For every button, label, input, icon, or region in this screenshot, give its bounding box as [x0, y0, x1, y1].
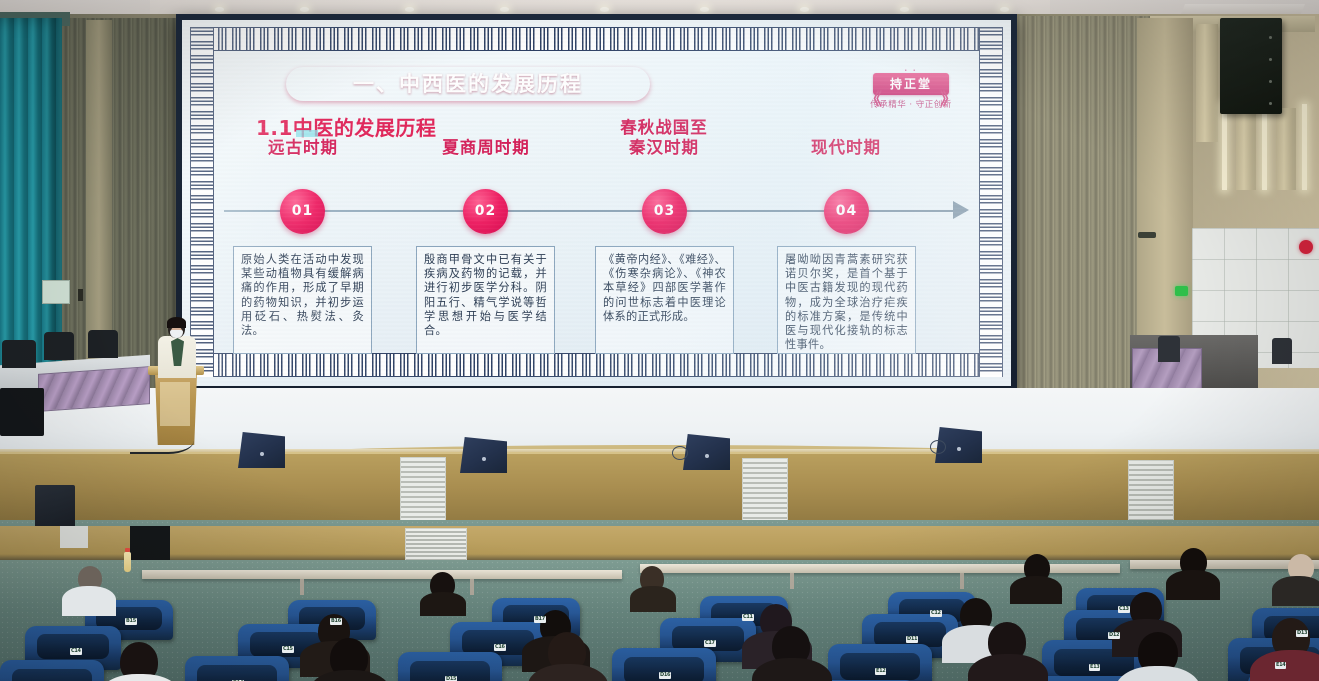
seat-number: D12	[1108, 632, 1120, 639]
seat-number: C11	[742, 614, 754, 621]
timeline-textbox-4: 屠呦呦因青蒿素研究获诺贝尔奖，是首个基于中医古籍发现的现代药物，成为全球治疗疟疾…	[777, 246, 916, 354]
stage-desk-skirt	[38, 366, 150, 412]
side-chair	[1158, 336, 1180, 362]
timeline-node-2: 02	[463, 189, 508, 234]
stage-vent-grille	[1128, 460, 1174, 528]
seat-number: C13	[1118, 606, 1130, 613]
wall-slot	[78, 289, 83, 301]
downlight	[405, 7, 414, 12]
slide-subtitle: 1.1中医的发展历程	[256, 112, 436, 141]
logo-bracket-left: 《	[865, 85, 882, 110]
brand-logo: • • 《 》 持正堂 传承精华 · 守正创新	[865, 68, 957, 110]
slide-fret-border-bottom	[190, 353, 1003, 377]
stage-chair	[44, 332, 74, 360]
seat-number: D16	[659, 672, 671, 679]
mic-stand-base	[672, 446, 688, 460]
stage-monitor-speaker	[238, 432, 285, 468]
cove-light	[1302, 104, 1307, 190]
timeline-arrow-icon	[953, 201, 969, 219]
stage-monitor-speaker	[460, 437, 507, 473]
wall-fin	[1236, 108, 1256, 190]
floor-cable	[130, 420, 194, 454]
timeline-textbox-1: 原始人类在活动中发现某些动植物具有缓解病痛的作用，形成了早期的药物知识，并初步运…	[233, 246, 372, 354]
downlight	[1000, 7, 1009, 12]
seat[interactable]	[828, 644, 932, 681]
stage-vent-grille	[742, 458, 788, 526]
downlight	[800, 7, 809, 12]
screenshot-root: 一、中西医的发展历程 1.1中医的发展历程 • • 《 》 持正堂 传承精华 ·…	[0, 0, 1319, 681]
era-label-1: 远古时期	[228, 138, 378, 158]
backwall-vent-grille	[405, 528, 467, 562]
slide-content: 一、中西医的发展历程 1.1中医的发展历程 • • 《 》 持正堂 传承精华 ·…	[218, 50, 975, 352]
seat[interactable]	[185, 656, 289, 681]
seat-number: E12	[875, 668, 886, 675]
timeline-body-2: 殷商甲骨文中已有关于疾病及药物的记载，并进行初步医学分科。阴阳五行、精气学说等哲…	[424, 253, 547, 338]
timeline-node-1-number: 01	[280, 189, 325, 234]
door-handle[interactable]	[1138, 232, 1156, 238]
seat-number: C14	[70, 648, 82, 655]
wall-fin	[1196, 24, 1218, 142]
timeline-node-1: 01	[280, 189, 325, 234]
seat-number: D15	[445, 676, 457, 681]
stage-chair	[88, 330, 118, 358]
side-chair	[1272, 338, 1292, 364]
cove-light	[1222, 104, 1227, 190]
era-label-2: 夏商周时期	[406, 138, 566, 158]
cove-light	[1262, 104, 1267, 190]
seat-number: C16	[494, 644, 506, 651]
logo-mark-text: 持正堂	[873, 73, 949, 95]
line-array-speaker	[1220, 18, 1282, 114]
lecture-hall: 一、中西医的发展历程 1.1中医的发展历程 • • 《 》 持正堂 传承精华 ·…	[0, 0, 1319, 681]
timeline-body-3: 《黄帝内经》、《难经》、《伤寒杂病论》、《神农本草经》四部医学著作的问世标志着中…	[603, 253, 726, 324]
seat-number: B17	[534, 616, 546, 623]
seat-number: C12	[930, 610, 942, 617]
timeline-body-4: 屠呦呦因青蒿素研究获诺贝尔奖，是首个基于中医古籍发现的现代药物，成为全球治疗疟疾…	[785, 253, 908, 352]
audience-desk-row	[142, 570, 622, 579]
alarm-indicator	[1299, 240, 1313, 254]
timeline-node-3-number: 03	[642, 189, 687, 234]
mic-stand-base	[930, 440, 946, 454]
timeline-node-3: 03	[642, 189, 687, 234]
timeline-textbox-3: 《黄帝内经》、《难经》、《伤寒杂病论》、《神农本草经》四部医学著作的问世标志着中…	[595, 246, 734, 354]
downlight	[215, 7, 224, 12]
stage-vent-grille	[400, 457, 446, 525]
slide-fret-border-top	[190, 27, 1003, 51]
stage-chair	[2, 340, 36, 368]
era-label-4: 现代时期	[770, 138, 922, 158]
downlight	[500, 7, 509, 12]
stage-front-panel	[0, 452, 1319, 528]
stage-monitor-speaker	[683, 434, 730, 470]
backwall-door[interactable]	[130, 526, 170, 560]
slide-fret-border-left	[190, 27, 214, 377]
slide-fret-border-right	[979, 27, 1003, 377]
backwall-panel	[60, 526, 88, 548]
downlight	[700, 7, 709, 12]
downlight	[300, 7, 309, 12]
timeline-body-1: 原始人类在活动中发现某些动植物具有缓解病痛的作用，形成了早期的药物知识，并初步运…	[241, 253, 364, 338]
exit-sign-icon	[1175, 286, 1188, 296]
slide-title-text: 一、中西医的发展历程	[286, 67, 650, 101]
downlight	[600, 7, 609, 12]
wall-control-panel	[42, 280, 70, 304]
equipment-case	[0, 388, 44, 436]
seat-number: E14	[1275, 662, 1286, 669]
timeline-node-4-number: 04	[824, 189, 869, 234]
seat-number: C15	[282, 646, 294, 653]
slide-title-banner: 一、中西医的发展历程	[286, 67, 650, 101]
seat-number: B16	[330, 618, 342, 625]
timeline-node-2-number: 02	[463, 189, 508, 234]
downlight	[900, 7, 909, 12]
projection-screen: 一、中西医的发展历程 1.1中医的发展历程 • • 《 》 持正堂 传承精华 ·…	[182, 20, 1011, 386]
subtitle-highlight	[296, 130, 318, 137]
seat-number: C17	[704, 640, 716, 647]
timeline-textbox-2: 殷商甲骨文中已有关于疾病及药物的记载，并进行初步医学分科。阴阳五行、精气学说等哲…	[416, 246, 555, 354]
ceiling-fixture	[1181, 4, 1305, 14]
seat-number: D13	[1296, 630, 1308, 637]
presenter-hair	[167, 317, 186, 328]
seat[interactable]	[0, 660, 104, 681]
wall-fin	[1276, 108, 1296, 190]
seat-number: B15	[125, 618, 137, 625]
audience-area: B15 B16 B17 C11 C12 C13 C14 C15 C16 C17 …	[0, 526, 1319, 681]
logo-bracket-right: 》	[940, 85, 957, 110]
timeline-node-4: 04	[824, 189, 869, 234]
era-label-3: 春秋战国至 秦汉时期	[588, 118, 740, 158]
seat-number: D11	[906, 636, 918, 643]
seat-number: E13	[1089, 664, 1100, 671]
